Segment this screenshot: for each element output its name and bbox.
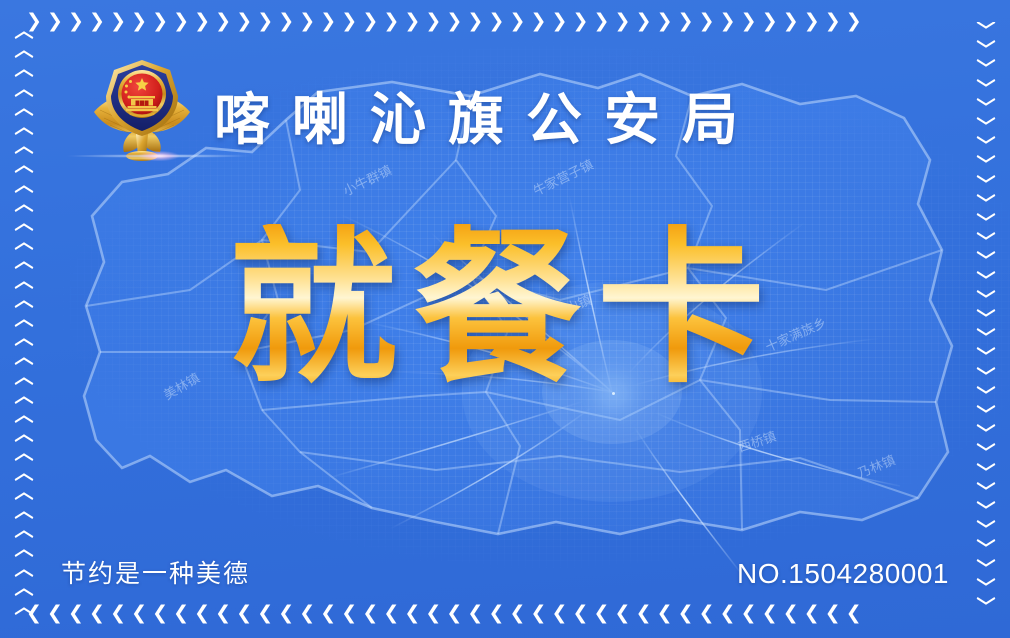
border-chevron: ︿ bbox=[14, 176, 33, 195]
border-chevron: ︿ bbox=[14, 540, 33, 559]
border-chevron: ︿ bbox=[14, 156, 33, 175]
border-chevron: ︿ bbox=[14, 560, 33, 579]
border-top: ❯❯❯❯❯❯❯❯❯❯❯❯❯❯❯❯❯❯❯❯❯❯❯❯❯❯❯❯❯❯❯❯❯❯❯❯❯❯❯❯ bbox=[26, 12, 984, 34]
border-chevron: ︿ bbox=[14, 60, 33, 79]
border-chevron: ︿ bbox=[14, 444, 33, 463]
border-chevron: ︿ bbox=[14, 464, 33, 483]
border-bottom: ❮❮❮❮❮❮❮❮❮❮❮❮❮❮❮❮❮❮❮❮❮❮❮❮❮❮❮❮❮❮❮❮❮❮❮❮❮❮❮❮ bbox=[26, 604, 984, 626]
card-main-title: 就餐卡 bbox=[0, 224, 1010, 392]
border-chevron: ︿ bbox=[14, 598, 33, 616]
border-chevron: ﹀ bbox=[976, 156, 995, 175]
card-serial-number: NO.1504280001 bbox=[737, 558, 949, 590]
border-chevron: ︿ bbox=[14, 80, 33, 99]
footer-motto: 节约是一种美德 bbox=[61, 554, 250, 590]
border-chevron: ﹀ bbox=[976, 80, 995, 99]
border-chevron: ﹀ bbox=[976, 444, 995, 463]
border-chevron: ﹀ bbox=[976, 560, 995, 579]
border-chevron: ﹀ bbox=[976, 598, 995, 616]
police-badge-icon bbox=[84, 52, 200, 164]
border-chevron: ﹀ bbox=[976, 540, 995, 559]
page-title: 喀喇沁旗公安局 bbox=[214, 75, 760, 156]
border-chevron: ﹀ bbox=[976, 60, 995, 79]
border-chevron: ﹀ bbox=[976, 176, 995, 195]
border-chevron: ﹀ bbox=[976, 464, 995, 483]
dining-card: 小牛群镇 牛家营子镇 美林镇 锦山镇 西桥镇 乃林镇 十家满族乡 ❯❯❯❯❯❯❯… bbox=[0, 0, 1010, 638]
